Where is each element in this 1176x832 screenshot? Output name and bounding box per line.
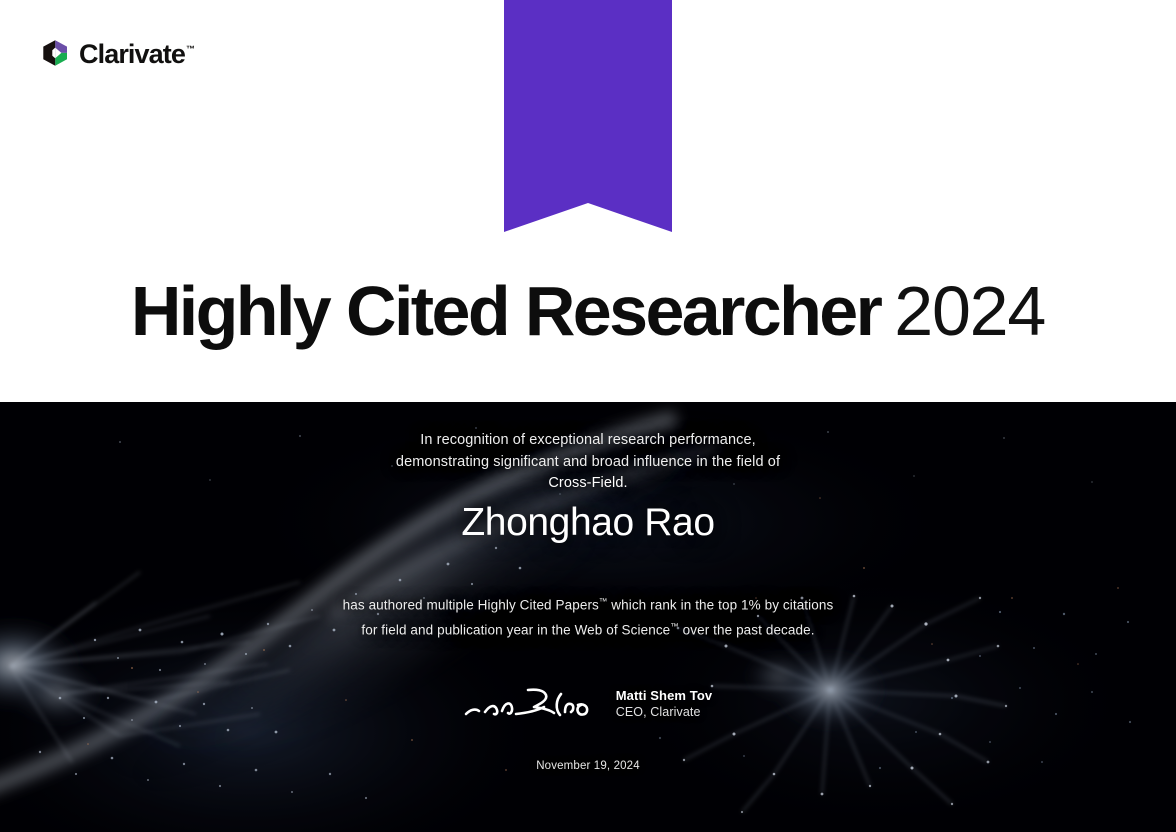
brand-trademark-symbol: ™ (186, 44, 195, 54)
citation-line-2-part-2: over the past decade. (679, 623, 815, 638)
clarivate-logo: Clarivate™ (40, 38, 194, 68)
award-date: November 19, 2024 (0, 760, 1176, 772)
citation-line-2: for field and publication year in the We… (0, 616, 1176, 641)
recipient-name: Zhonghao Rao (0, 500, 1176, 547)
recognition-line-2: demonstrating significant and broad infl… (0, 452, 1176, 474)
signatory-title: CEO, Clarivate (616, 704, 713, 721)
page-title: Highly Cited Researcher2024 (0, 276, 1176, 346)
citation-line-1-part-1: has authored multiple Highly Cited Paper… (343, 598, 599, 613)
recognition-line-1: In recognition of exceptional research p… (0, 430, 1176, 452)
web-of-science-trademark: ™ (670, 621, 679, 631)
research-field: Cross-Field. (0, 473, 1176, 495)
clarivate-logo-mark-icon (40, 38, 70, 68)
signatory-info: Matti Shem Tov CEO, Clarivate (616, 687, 713, 723)
recognition-statement: In recognition of exceptional research p… (0, 430, 1176, 495)
clarivate-wordmark: Clarivate™ (79, 41, 194, 68)
signature-block: Matti Shem Tov CEO, Clarivate (0, 680, 1176, 730)
certificate-page: Clarivate™ Highly Cited Researcher2024 (0, 0, 1176, 832)
citation-line-1: has authored multiple Highly Cited Paper… (0, 591, 1176, 616)
ribbon-banner-icon (504, 0, 672, 234)
brand-name-text: Clarivate (79, 39, 185, 69)
handwritten-signature-icon (464, 680, 590, 730)
signatory-name: Matti Shem Tov (616, 687, 713, 704)
certificate-header-section: Clarivate™ Highly Cited Researcher2024 (0, 0, 1176, 402)
citation-line-1-part-2: which rank in the top 1% by citations (607, 598, 833, 613)
citation-statement: has authored multiple Highly Cited Paper… (0, 591, 1176, 641)
title-year-text: 2024 (894, 272, 1045, 350)
certificate-body-section: In recognition of exceptional research p… (0, 402, 1176, 832)
title-main-text: Highly Cited Researcher (131, 272, 880, 350)
citation-line-2-part-1: for field and publication year in the We… (361, 623, 670, 638)
